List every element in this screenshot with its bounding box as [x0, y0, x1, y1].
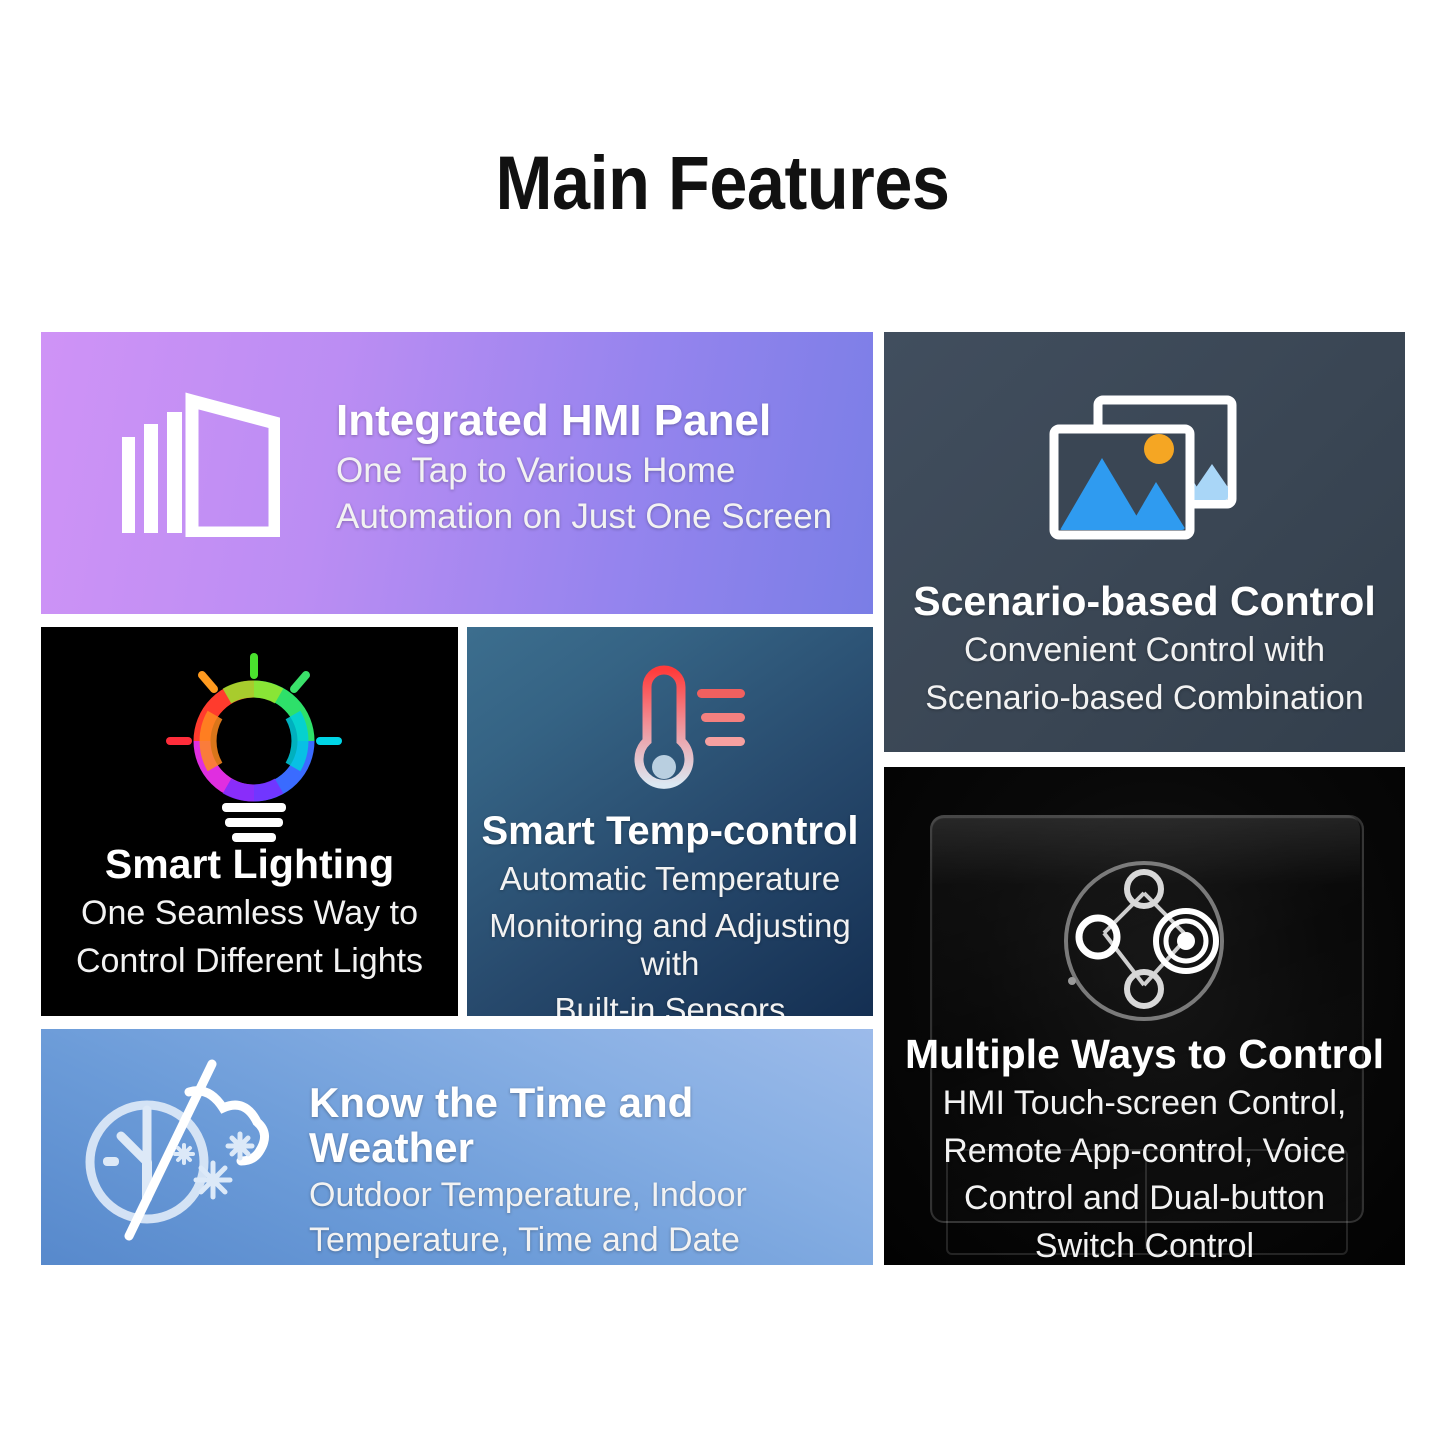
features-infographic: Main Features Integrated HMI Panel One T… [0, 0, 1445, 1445]
card-subtitle-line-1: HMI Touch-screen Control, [896, 1084, 1393, 1123]
card-text-block: Integrated HMI Panel One Tap to Various … [336, 398, 856, 538]
card-subtitle-line-2: Temperature, Time and Date [309, 1221, 869, 1260]
card-subtitle-line-1: Convenient Control with [896, 631, 1393, 670]
clock-cloud-snow-icon [85, 1058, 290, 1250]
network-nodes-icon [1058, 855, 1230, 1027]
card-text-block: Scenario-based Control Convenient Contro… [896, 580, 1393, 718]
card-title: Scenario-based Control [896, 580, 1393, 623]
card-subtitle-line-4: Switch Control [896, 1227, 1393, 1265]
rgb-bulb-icon [166, 653, 342, 843]
hmi-panel-icon [120, 392, 280, 537]
card-subtitle-line-2: Remote App-control, Voice [896, 1132, 1393, 1171]
card-subtitle-line-1: One Seamless Way to [49, 894, 450, 933]
card-subtitle-line-3: Control and Dual-button [896, 1179, 1393, 1218]
card-subtitle-line-2: Automation on Just One Screen [336, 497, 856, 538]
card-text-block: Smart Temp-control Automatic Temperature… [473, 810, 867, 1016]
card-subtitle-line-1: Outdoor Temperature, Indoor [309, 1176, 869, 1215]
card-title: Know the Time and Weather [309, 1081, 869, 1170]
card-title: Multiple Ways to Control [896, 1033, 1393, 1076]
card-subtitle-line-2: Monitoring and Adjusting with [473, 907, 867, 984]
card-text-block: Smart Lighting One Seamless Way to Contr… [49, 843, 450, 981]
card-text-block: Multiple Ways to Control HMI Touch-scree… [896, 1033, 1393, 1265]
card-title: Smart Lighting [49, 843, 450, 886]
page-title: Main Features [72, 140, 1373, 227]
card-subtitle-line-3: Built-in Sensors [473, 991, 867, 1016]
card-subtitle-line-2: Control Different Lights [49, 942, 450, 981]
card-text-block: Know the Time and Weather Outdoor Temper… [309, 1081, 869, 1261]
thermometer-icon [605, 665, 755, 805]
card-subtitle-line-1: One Tap to Various Home [336, 451, 856, 492]
card-subtitle-line-2: Scenario-based Combination [896, 679, 1393, 718]
card-title: Smart Temp-control [473, 810, 867, 852]
card-title: Integrated HMI Panel [336, 398, 856, 445]
photo-stack-icon [1046, 394, 1242, 542]
card-subtitle-line-1: Automatic Temperature [473, 860, 867, 898]
